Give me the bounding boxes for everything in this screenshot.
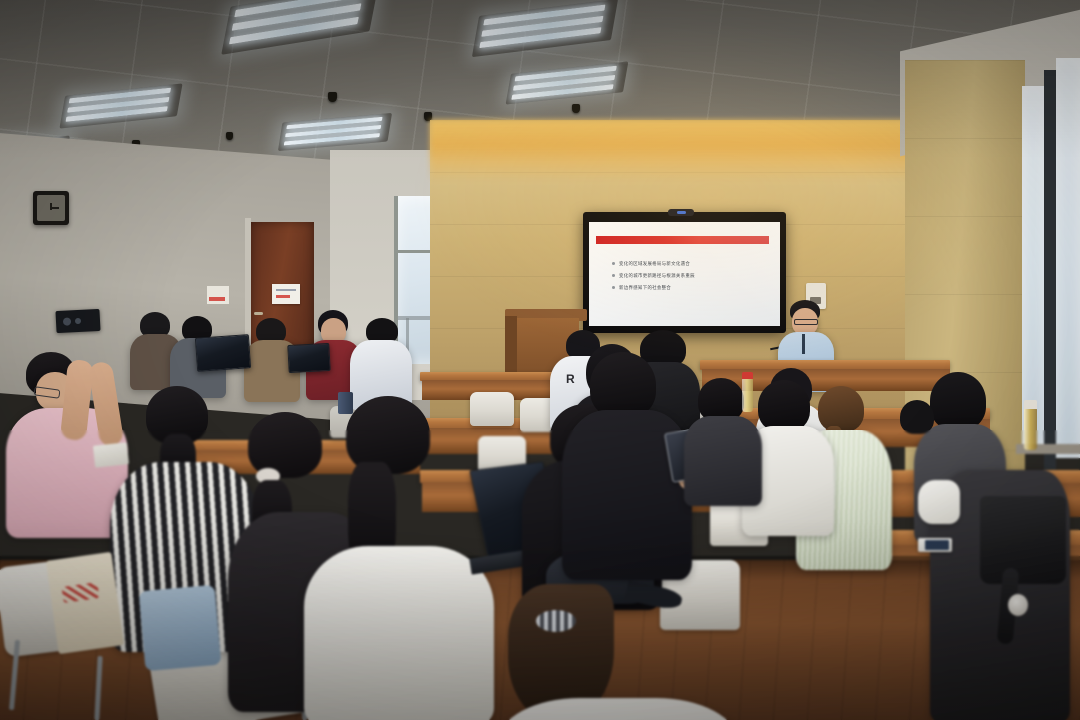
- slide-bullet-text: 变化的区域发展格局与新文化遇合: [619, 261, 690, 266]
- display-webcam-bar: [668, 209, 694, 216]
- wall-notice: [207, 286, 229, 304]
- smartphone-on-desk[interactable]: [918, 538, 952, 552]
- ceiling-sensor: [328, 92, 337, 102]
- presenter-lanyard: [802, 334, 805, 354]
- wall-clock: [33, 191, 69, 225]
- clock-hand-minute: [51, 207, 59, 209]
- laptop[interactable]: [287, 343, 330, 373]
- slide-bullet: 新边界感知下的社会整合: [612, 285, 762, 290]
- smartphone-camera[interactable]: [55, 309, 100, 333]
- hair-tie-beads: [536, 610, 576, 632]
- audience-chair[interactable]: [470, 392, 514, 426]
- ceiling-sensor: [226, 132, 233, 140]
- denim-jacket: [139, 585, 222, 671]
- backpack[interactable]: [980, 496, 1066, 584]
- slide-bullet: 变化的区域发展格局与新文化遇合: [612, 261, 762, 266]
- tote-graphic: [62, 582, 100, 603]
- wall-notice-accent: [209, 297, 225, 301]
- attendee-hair: [758, 380, 810, 432]
- bag-charm: [1008, 594, 1028, 616]
- attendee-hair: [818, 386, 864, 432]
- notebook[interactable]: [93, 442, 129, 467]
- bullet-marker-icon: [612, 262, 615, 265]
- attendee-hair: [930, 372, 986, 430]
- slide-accent-bar: [596, 236, 769, 244]
- ceiling-sensor: [572, 104, 580, 113]
- slide-bullet-text: 变化的城市更新路径与根源关系重辰: [619, 273, 695, 278]
- amber-cove-lighting: [430, 120, 950, 182]
- phone-screen: [925, 540, 949, 550]
- bottle-cap: [1024, 400, 1037, 409]
- lectern-side: [505, 316, 517, 380]
- attendee-top: [684, 416, 762, 506]
- attendee-shirt-graphic: R: [566, 372, 574, 384]
- attendee-hair: [248, 412, 322, 478]
- slide-bullet: 变化的城市更新路径与根源关系重辰: [612, 273, 762, 278]
- door-sign: [272, 284, 300, 304]
- attendee-top: [304, 546, 494, 720]
- door-sign-accent: [276, 295, 290, 298]
- water-bottle[interactable]: [742, 378, 753, 412]
- door-handle-icon[interactable]: [254, 312, 263, 315]
- attendee-hair: [900, 400, 934, 434]
- plastic-bag: [918, 480, 960, 524]
- slide-bullet-text: 新边界感知下的社会整合: [619, 285, 671, 290]
- bullet-marker-icon: [612, 274, 615, 277]
- bullet-marker-icon: [612, 286, 615, 289]
- cup[interactable]: [338, 392, 353, 414]
- tote-bag[interactable]: [46, 552, 124, 654]
- laptop[interactable]: [195, 334, 251, 372]
- presentation-slide: 变化的区域发展格局与新文化遇合 变化的城市更新路径与根源关系重辰 新边界感知下的…: [589, 222, 780, 326]
- exterior-window: [1056, 58, 1080, 458]
- slide-bullet-list: 变化的区域发展格局与新文化遇合 变化的城市更新路径与根源关系重辰 新边界感知下的…: [612, 261, 762, 297]
- window-mullion: [1044, 70, 1056, 470]
- tea-bottle[interactable]: [1024, 408, 1037, 450]
- exterior-window: [1022, 86, 1044, 446]
- photograph-lecture-room: 变化的区域发展格局与新文化遇合 变化的城市更新路径与根源关系重辰 新边界感知下的…: [0, 0, 1080, 720]
- attendee-hair: [590, 352, 656, 418]
- presenter-glasses-icon: [794, 319, 818, 325]
- bottle-cap: [742, 372, 753, 379]
- door-sign-text: [276, 289, 296, 291]
